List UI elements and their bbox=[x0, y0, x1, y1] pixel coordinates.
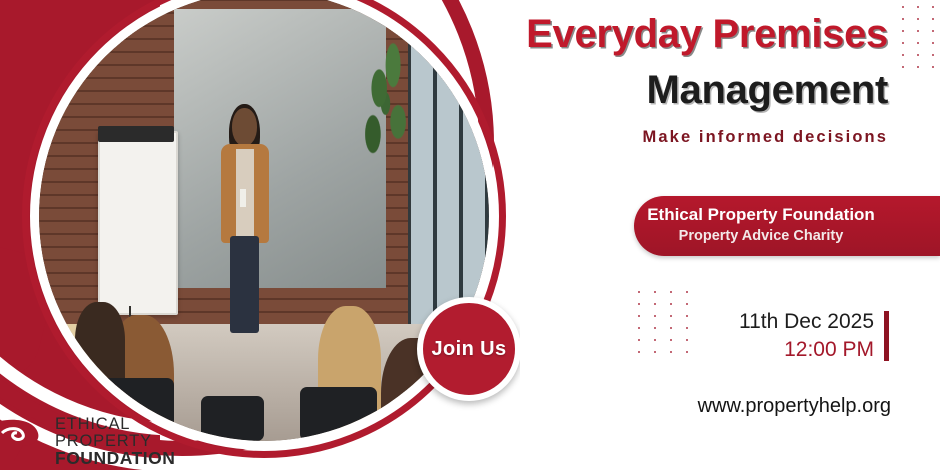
event-photo bbox=[39, 0, 489, 441]
pattern-dot bbox=[902, 66, 904, 68]
pattern-dot bbox=[654, 351, 656, 353]
headline-line-1: Everyday Premises bbox=[526, 12, 888, 57]
pattern-dot bbox=[917, 66, 919, 68]
pattern-dot bbox=[917, 18, 919, 20]
pattern-dot bbox=[917, 6, 919, 8]
logo-line-1: ETHICAL bbox=[55, 416, 175, 433]
pattern-dot bbox=[932, 54, 934, 56]
pattern-dot bbox=[638, 291, 640, 293]
organisation-name: Ethical Property Foundation bbox=[634, 205, 888, 225]
pattern-dot bbox=[932, 6, 934, 8]
dot-pattern-middle bbox=[638, 291, 700, 357]
pattern-dot bbox=[686, 315, 688, 317]
photo-audience-member bbox=[75, 302, 125, 388]
logo-e-mark-icon bbox=[0, 417, 46, 467]
join-us-label: Join Us bbox=[431, 338, 506, 361]
photo-presenter-trousers bbox=[230, 236, 259, 333]
photo-presenter bbox=[219, 108, 271, 333]
photo-flipchart bbox=[98, 131, 179, 315]
pattern-dot bbox=[917, 30, 919, 32]
pattern-dot bbox=[932, 42, 934, 44]
pattern-dot bbox=[670, 291, 672, 293]
pattern-dot bbox=[638, 303, 640, 305]
pattern-dot bbox=[686, 339, 688, 341]
pattern-dot bbox=[654, 303, 656, 305]
content-panel: Everyday Premises Management Make inform… bbox=[520, 0, 940, 470]
pattern-dot bbox=[932, 30, 934, 32]
pattern-dot bbox=[686, 291, 688, 293]
pattern-dot bbox=[902, 54, 904, 56]
join-us-badge[interactable]: Join Us bbox=[417, 297, 520, 401]
vertical-accent-bar bbox=[884, 311, 889, 361]
pattern-dot bbox=[670, 351, 672, 353]
pattern-dot bbox=[917, 42, 919, 44]
pattern-dot bbox=[654, 315, 656, 317]
event-date: 11th Dec 2025 bbox=[739, 310, 874, 334]
event-time: 12:00 PM bbox=[784, 338, 874, 362]
organisation-logo: ETHICAL PROPERTY FOUNDATION bbox=[0, 416, 175, 468]
photo-chair bbox=[300, 387, 377, 441]
photo-presenter-head bbox=[232, 108, 257, 146]
pattern-dot bbox=[670, 315, 672, 317]
pattern-dot bbox=[902, 42, 904, 44]
pattern-dot bbox=[902, 18, 904, 20]
organisation-tagline: Property Advice Charity bbox=[634, 228, 888, 244]
pattern-dot bbox=[670, 327, 672, 329]
pattern-dot bbox=[638, 315, 640, 317]
photo-flipchart-header bbox=[98, 126, 175, 142]
website-url[interactable]: www.propertyhelp.org bbox=[698, 395, 891, 418]
photo-chair bbox=[201, 396, 264, 441]
dot-pattern-top-right bbox=[902, 6, 940, 72]
photo-circle-frame bbox=[30, 0, 498, 450]
logo-wordmark: ETHICAL PROPERTY FOUNDATION bbox=[55, 416, 175, 468]
pattern-dot bbox=[638, 327, 640, 329]
pattern-dot bbox=[686, 327, 688, 329]
pattern-dot bbox=[654, 339, 656, 341]
pattern-dot bbox=[902, 6, 904, 8]
pattern-dot bbox=[932, 66, 934, 68]
pattern-dot bbox=[638, 351, 640, 353]
pattern-dot bbox=[638, 339, 640, 341]
pattern-dot bbox=[932, 18, 934, 20]
organisation-badge: Ethical Property Foundation Property Adv… bbox=[634, 196, 940, 256]
pattern-dot bbox=[686, 351, 688, 353]
pattern-dot bbox=[670, 339, 672, 341]
pattern-dot bbox=[917, 54, 919, 56]
headline-line-2: Management bbox=[647, 68, 889, 113]
pattern-dot bbox=[902, 30, 904, 32]
pattern-dot bbox=[654, 327, 656, 329]
logo-line-3: FOUNDATION bbox=[55, 450, 175, 468]
pattern-dot bbox=[670, 303, 672, 305]
photo-presenter-lanyard bbox=[240, 189, 247, 207]
pattern-dot bbox=[686, 303, 688, 305]
subtitle: Make informed decisions bbox=[643, 128, 888, 147]
event-promo-banner: Join Us ETHICAL PROPERTY FOUNDATION Ever… bbox=[0, 0, 940, 470]
left-artwork-panel: Join Us bbox=[0, 0, 520, 470]
pattern-dot bbox=[654, 291, 656, 293]
